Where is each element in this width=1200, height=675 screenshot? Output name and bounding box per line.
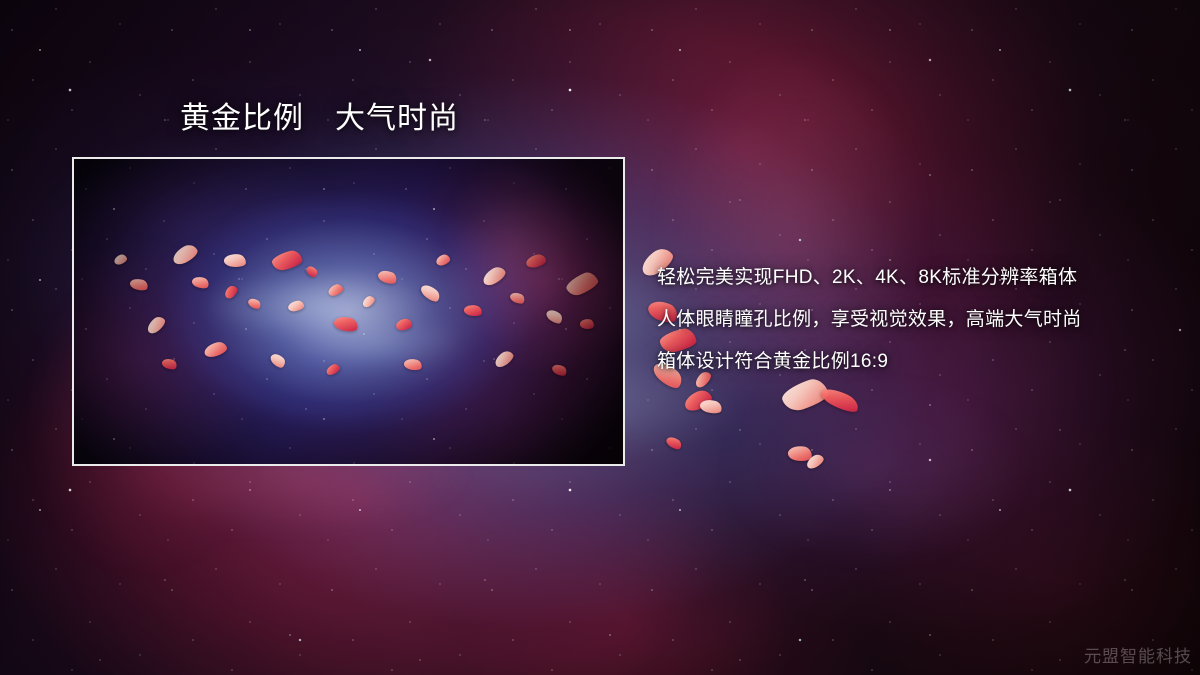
body-copy: 轻松完美实现FHD、2K、4K、8K标准分辨率箱体 人体眼睛瞳孔比例，享受视觉效… xyxy=(657,257,1157,383)
petal xyxy=(819,384,862,416)
presentation-slide: 黄金比例 大气时尚 轻松完美实现FHD、2K、4K、8K标准分辨率箱体 人体眼睛… xyxy=(0,0,1200,675)
watermark: 元盟智能科技 xyxy=(1084,642,1192,667)
framed-photo xyxy=(72,157,625,466)
petal xyxy=(665,434,684,451)
body-line-1: 轻松完美实现FHD、2K、4K、8K标准分辨率箱体 xyxy=(657,257,1157,299)
page-title: 黄金比例 大气时尚 xyxy=(180,101,459,137)
petal xyxy=(699,398,723,416)
body-line-2: 人体眼睛瞳孔比例，享受视觉效果，高端大气时尚 xyxy=(657,299,1157,341)
body-line-3: 箱体设计符合黄金比例16:9 xyxy=(657,341,1157,383)
photo-vignette xyxy=(74,159,623,464)
